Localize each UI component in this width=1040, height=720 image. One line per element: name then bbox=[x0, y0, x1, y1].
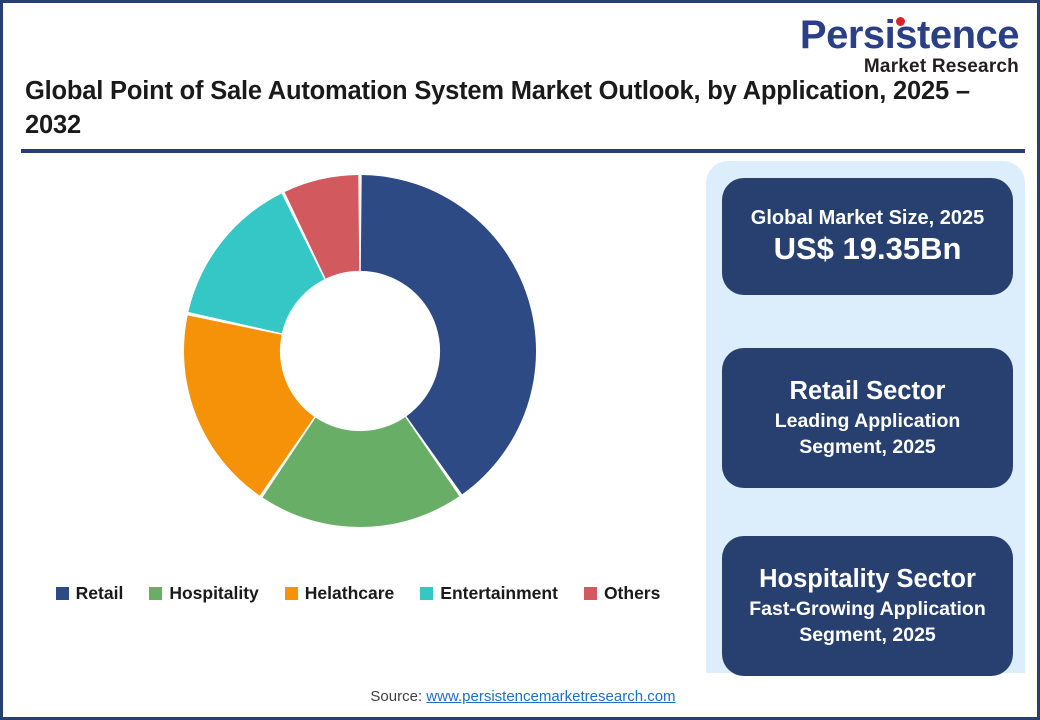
source-footer: Source: www.persistencemarketresearch.co… bbox=[3, 688, 1040, 705]
donut-chart-svg bbox=[184, 175, 536, 527]
card-leading-segment-line1: Leading Application bbox=[775, 409, 961, 434]
brand-logo-dot-icon bbox=[896, 17, 905, 26]
card-leading-segment-line2: Segment, 2025 bbox=[799, 435, 936, 460]
card-fastest-segment-heading: Hospitality Sector bbox=[759, 564, 976, 595]
card-market-size-value: US$ 19.35Bn bbox=[774, 230, 962, 267]
legend-swatch-icon bbox=[285, 587, 298, 600]
legend-item-label: Others bbox=[604, 583, 660, 604]
infographic-canvas: Persistence Market Research Global Point… bbox=[0, 0, 1040, 720]
card-leading-segment-heading: Retail Sector bbox=[790, 376, 946, 407]
chart-area bbox=[23, 163, 693, 563]
legend-swatch-icon bbox=[584, 587, 597, 600]
legend-item: Others bbox=[584, 583, 660, 604]
legend-item-label: Helathcare bbox=[305, 583, 395, 604]
source-link[interactable]: www.persistencemarketresearch.com bbox=[426, 688, 675, 705]
brand-logo-secondary: Market Research bbox=[800, 57, 1019, 76]
brand-logo: Persistence Market Research bbox=[800, 15, 1019, 76]
card-fastest-segment-line2: Segment, 2025 bbox=[799, 623, 936, 648]
legend-item: Hospitality bbox=[149, 583, 258, 604]
legend-item-label: Hospitality bbox=[169, 583, 258, 604]
card-leading-segment: Retail Sector Leading Application Segmen… bbox=[722, 348, 1013, 488]
legend-item-label: Entertainment bbox=[440, 583, 558, 604]
legend-item: Helathcare bbox=[285, 583, 395, 604]
legend-item-label: Retail bbox=[76, 583, 124, 604]
card-market-size: Global Market Size, 2025 US$ 19.35Bn bbox=[722, 178, 1013, 295]
legend-swatch-icon bbox=[56, 587, 69, 600]
donut-chart bbox=[184, 175, 536, 527]
chart-legend: RetailHospitalityHelathcareEntertainment… bbox=[23, 583, 693, 604]
brand-logo-primary: Persistence bbox=[800, 15, 1019, 55]
legend-swatch-icon bbox=[420, 587, 433, 600]
card-fastest-segment: Hospitality Sector Fast-Growing Applicat… bbox=[722, 536, 1013, 676]
card-fastest-segment-line1: Fast-Growing Application bbox=[749, 597, 986, 622]
legend-item: Retail bbox=[56, 583, 124, 604]
page-title: Global Point of Sale Automation System M… bbox=[25, 75, 1000, 142]
legend-swatch-icon bbox=[149, 587, 162, 600]
source-label: Source: bbox=[370, 688, 422, 705]
brand-logo-primary-text: Persistence bbox=[800, 13, 1019, 57]
legend-item: Entertainment bbox=[420, 583, 558, 604]
card-market-size-label: Global Market Size, 2025 bbox=[751, 206, 984, 230]
title-divider bbox=[21, 149, 1025, 153]
